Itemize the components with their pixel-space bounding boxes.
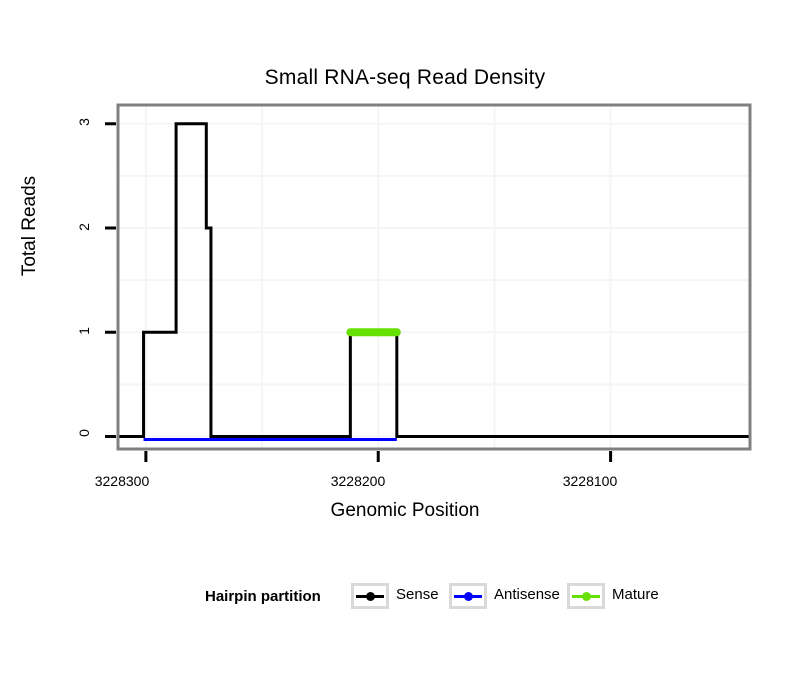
legend-label-mature[interactable]: Mature [612, 586, 659, 603]
legend-dot-mature [582, 592, 591, 601]
x-axis-label: Genomic Position [0, 500, 810, 522]
legend-key-sense[interactable] [351, 583, 389, 609]
ytick-label-1: 1 [76, 311, 92, 351]
y-axis-label: Total Reads [19, 136, 41, 316]
legend-title: Hairpin partition [205, 588, 321, 605]
xtick-label-0: 3228300 [62, 473, 182, 489]
ytick-label-3: 3 [76, 102, 92, 142]
legend-key-mature[interactable] [567, 583, 605, 609]
legend-key-antisense[interactable] [449, 583, 487, 609]
ytick-label-2: 2 [76, 207, 92, 247]
legend-label-antisense[interactable]: Antisense [494, 586, 560, 603]
legend-dot-antisense [464, 592, 473, 601]
chart-figure: Small RNA-seq Read Density 0 1 2 3 32283… [0, 0, 810, 690]
xtick-label-1: 3228200 [298, 473, 418, 489]
ytick-label-0: 0 [76, 413, 92, 453]
panel-background [118, 105, 750, 449]
legend-dot-sense [366, 592, 375, 601]
legend-label-sense[interactable]: Sense [396, 586, 439, 603]
xtick-label-2: 3228100 [530, 473, 650, 489]
